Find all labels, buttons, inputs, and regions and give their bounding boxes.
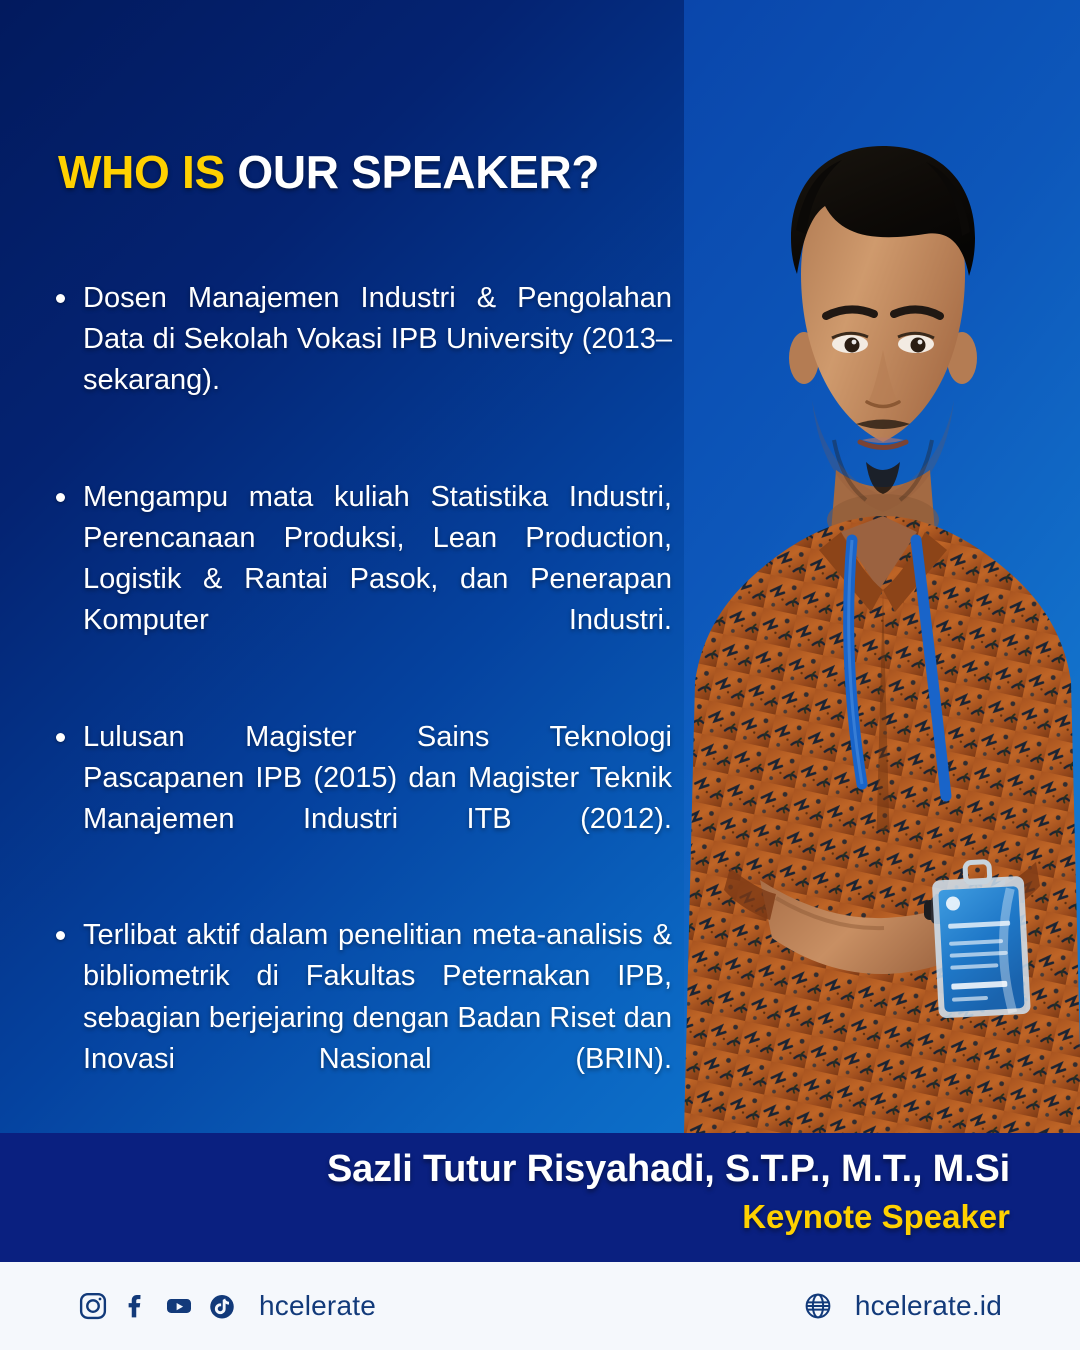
bio-text: Mengampu mata kuliah Statistika Industri… — [83, 477, 672, 683]
list-item: Terlibat aktif dalam penelitian meta-ana… — [52, 915, 672, 1121]
speaker-name-banner: Sazli Tutur Risyahadi, S.T.P., M.T., M.S… — [0, 1133, 1080, 1262]
background-panel-right — [684, 0, 1080, 1133]
youtube-icon[interactable] — [164, 1291, 194, 1321]
globe-icon — [803, 1291, 833, 1321]
social-handle[interactable]: hcelerate — [259, 1290, 376, 1322]
instagram-icon[interactable] — [78, 1291, 108, 1321]
bio-text: Dosen Manajemen Industri & Pengolahan Da… — [83, 278, 672, 443]
bullet-dot-icon — [56, 733, 65, 742]
title-accent: WHO IS — [58, 146, 225, 198]
bio-text: Lulusan Magister Sains Teknologi Pascapa… — [83, 717, 672, 882]
list-item: Lulusan Magister Sains Teknologi Pascapa… — [52, 717, 672, 882]
list-item: Dosen Manajemen Industri & Pengolahan Da… — [52, 278, 672, 443]
website-url[interactable]: hcelerate.id — [855, 1290, 1002, 1322]
tiktok-icon[interactable] — [207, 1291, 237, 1321]
bio-text: Terlibat aktif dalam penelitian meta-ana… — [83, 915, 672, 1121]
footer-website-group: hcelerate.id — [803, 1290, 1002, 1322]
speaker-name: Sazli Tutur Risyahadi, S.T.P., M.T., M.S… — [0, 1147, 1010, 1192]
social-icons — [78, 1291, 237, 1321]
speaker-photo — [684, 0, 1080, 1133]
list-item: Mengampu mata kuliah Statistika Industri… — [52, 477, 672, 683]
footer-bar: hcelerate hcelerate.id — [0, 1262, 1080, 1350]
bullet-dot-icon — [56, 931, 65, 940]
facebook-icon[interactable] — [121, 1291, 151, 1321]
footer-social-group: hcelerate — [78, 1290, 376, 1322]
speaker-poster: WHO IS OUR SPEAKER? Dosen Manajemen Indu… — [0, 0, 1080, 1350]
speaker-role: Keynote Speaker — [0, 1196, 1010, 1237]
bullet-dot-icon — [56, 294, 65, 303]
title-main: OUR SPEAKER? — [237, 146, 599, 198]
bullet-dot-icon — [56, 493, 65, 502]
page-title: WHO IS OUR SPEAKER? — [58, 148, 599, 196]
speaker-bio-list: Dosen Manajemen Industri & Pengolahan Da… — [52, 278, 672, 1155]
